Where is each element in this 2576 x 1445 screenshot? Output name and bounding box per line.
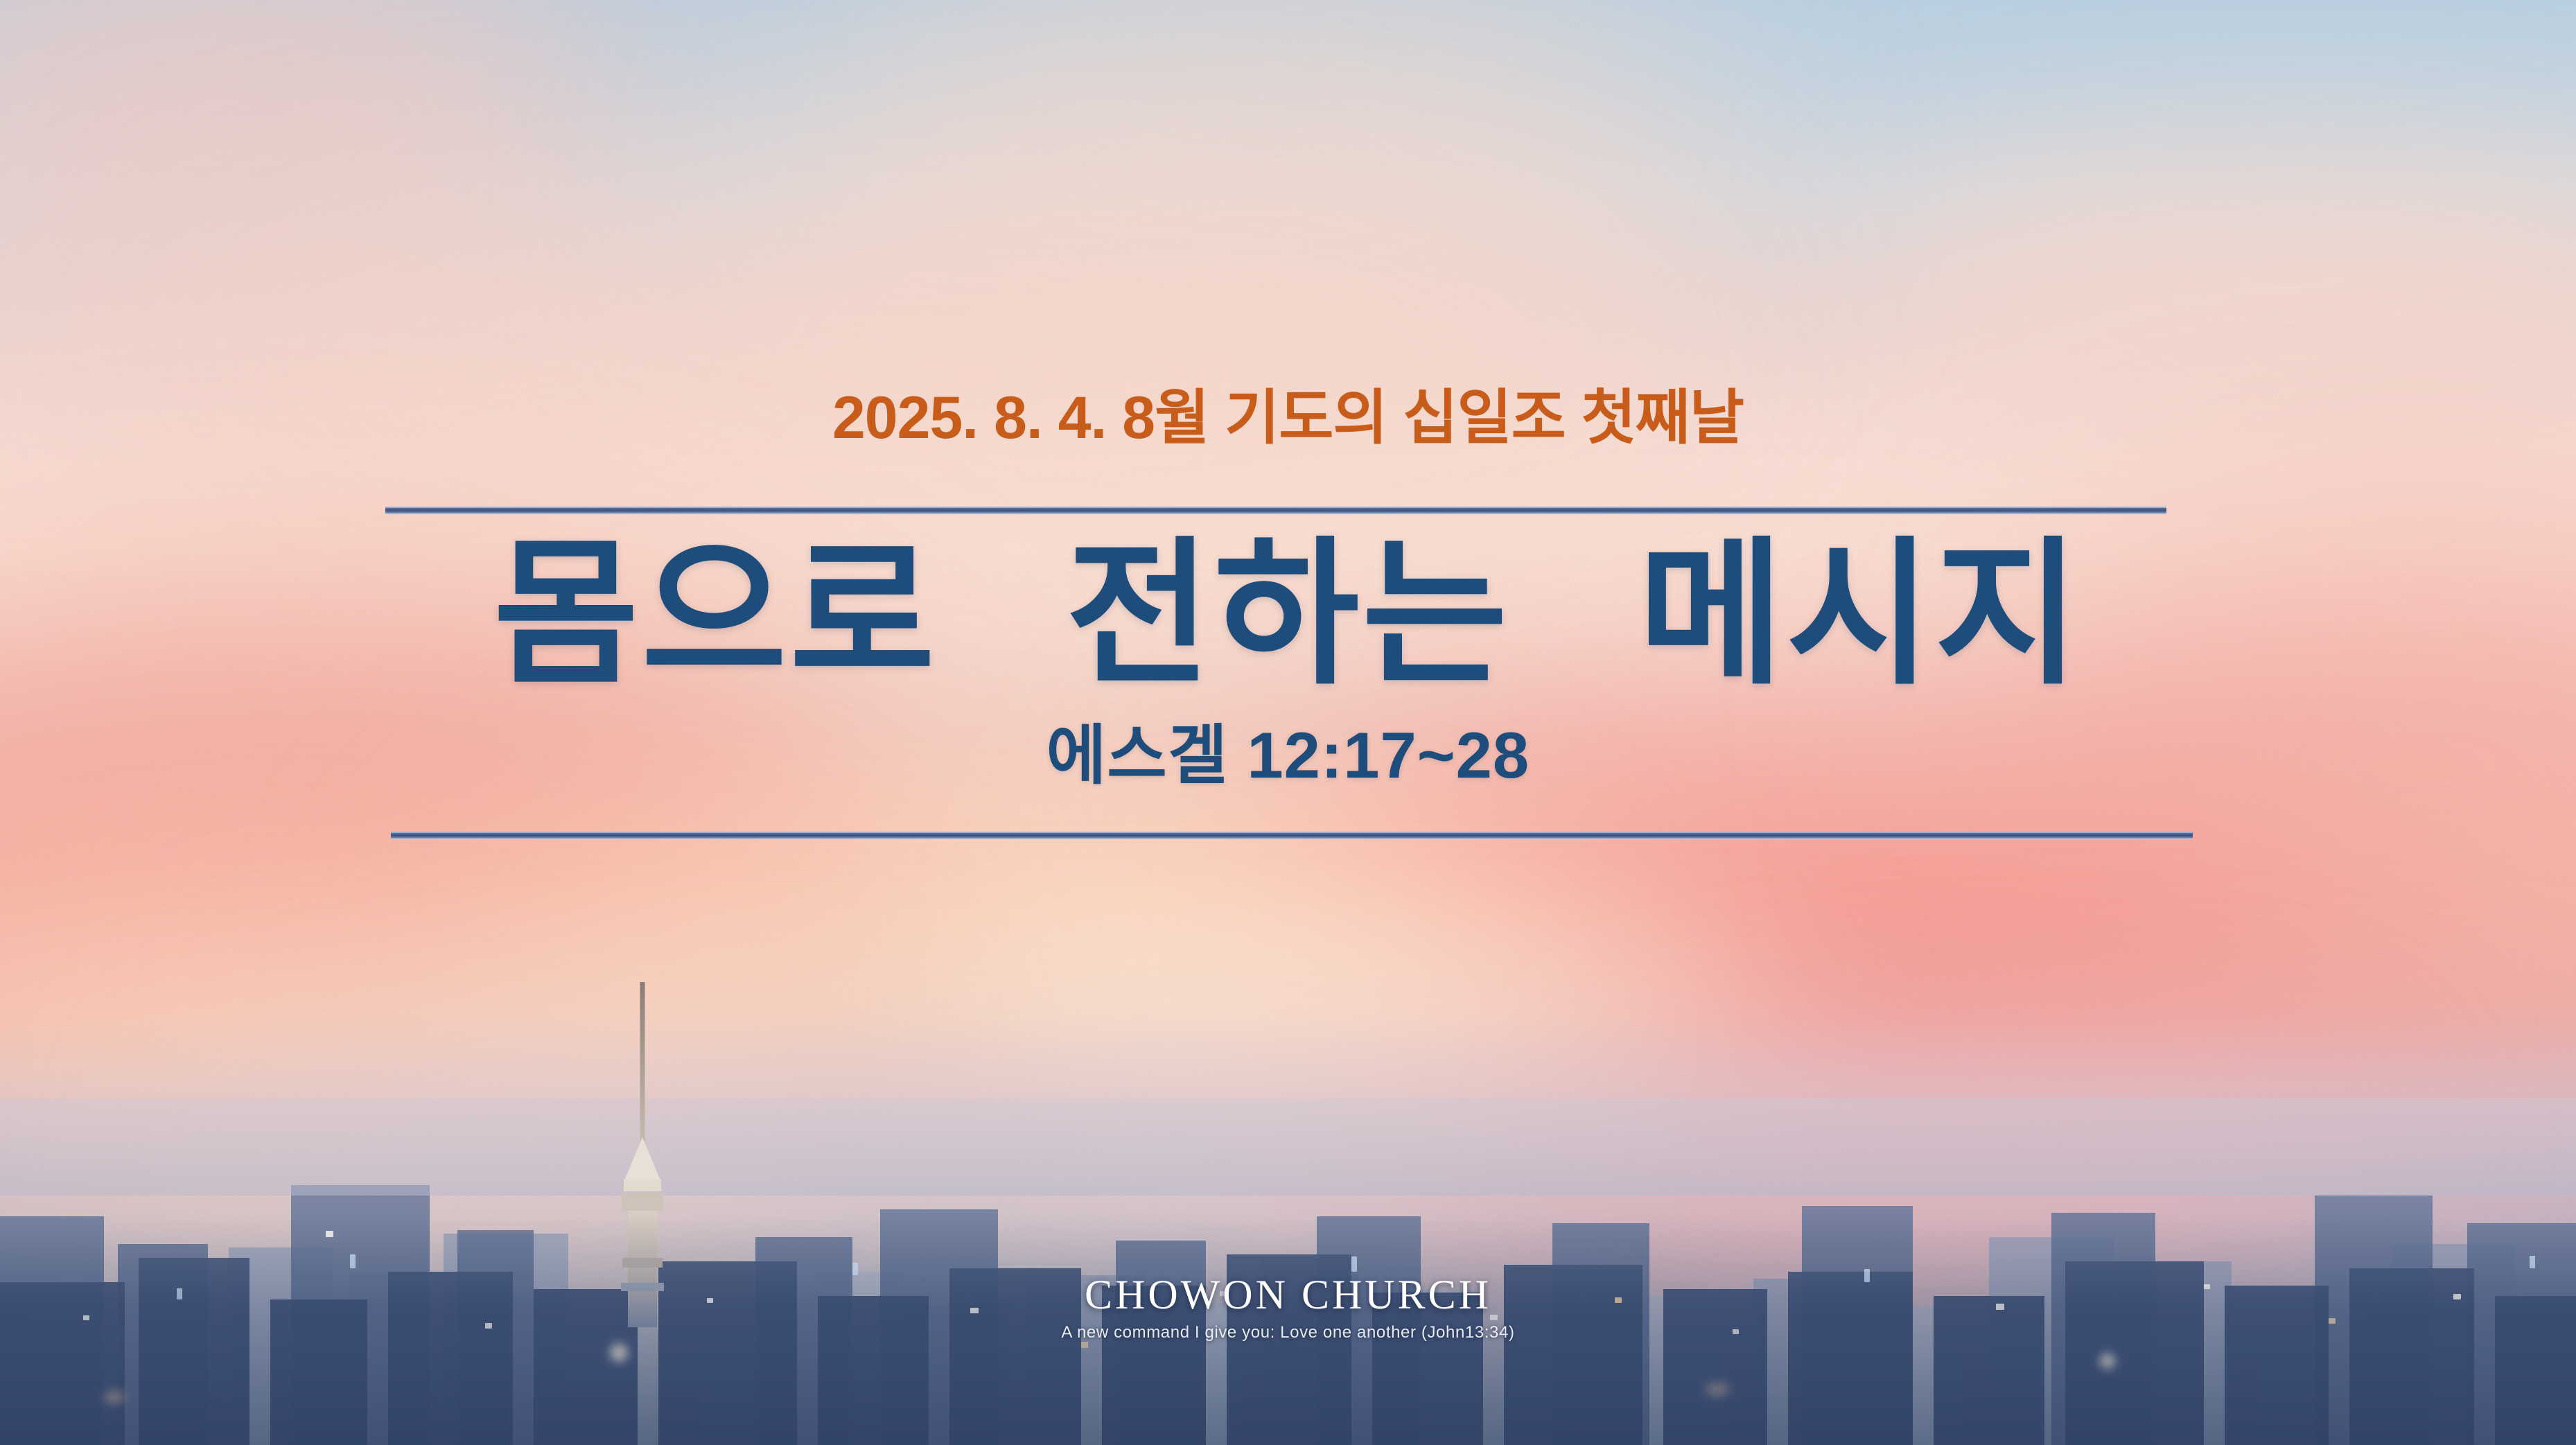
divider-rule-bottom	[391, 832, 2193, 839]
scripture-reference: 에스겔 12:17~28	[0, 719, 2576, 791]
sermon-date-line: 2025. 8. 4. 8월 기도의 십일조 첫째날	[0, 385, 2576, 451]
divider-rule-top	[385, 507, 2166, 514]
sermon-title-word-2: 전하는	[1066, 527, 1510, 703]
church-name: CHOWON CHURCH	[0, 1274, 2576, 1315]
sermon-title-slide: 2025. 8. 4. 8월 기도의 십일조 첫째날 몸으로 전하는 메시지 에…	[0, 0, 2576, 1445]
church-tagline: A new command I give you: Love one anoth…	[0, 1324, 2576, 1341]
sermon-title-word-3: 메시지	[1638, 527, 2083, 703]
slide-content: 2025. 8. 4. 8월 기도의 십일조 첫째날 몸으로 전하는 메시지 에…	[0, 0, 2576, 1445]
sermon-title-word-1: 몸으로	[493, 527, 938, 703]
sermon-title: 몸으로 전하는 메시지	[0, 532, 2576, 698]
church-logo: CHOWON CHURCH A new command I give you: …	[0, 1274, 2576, 1341]
